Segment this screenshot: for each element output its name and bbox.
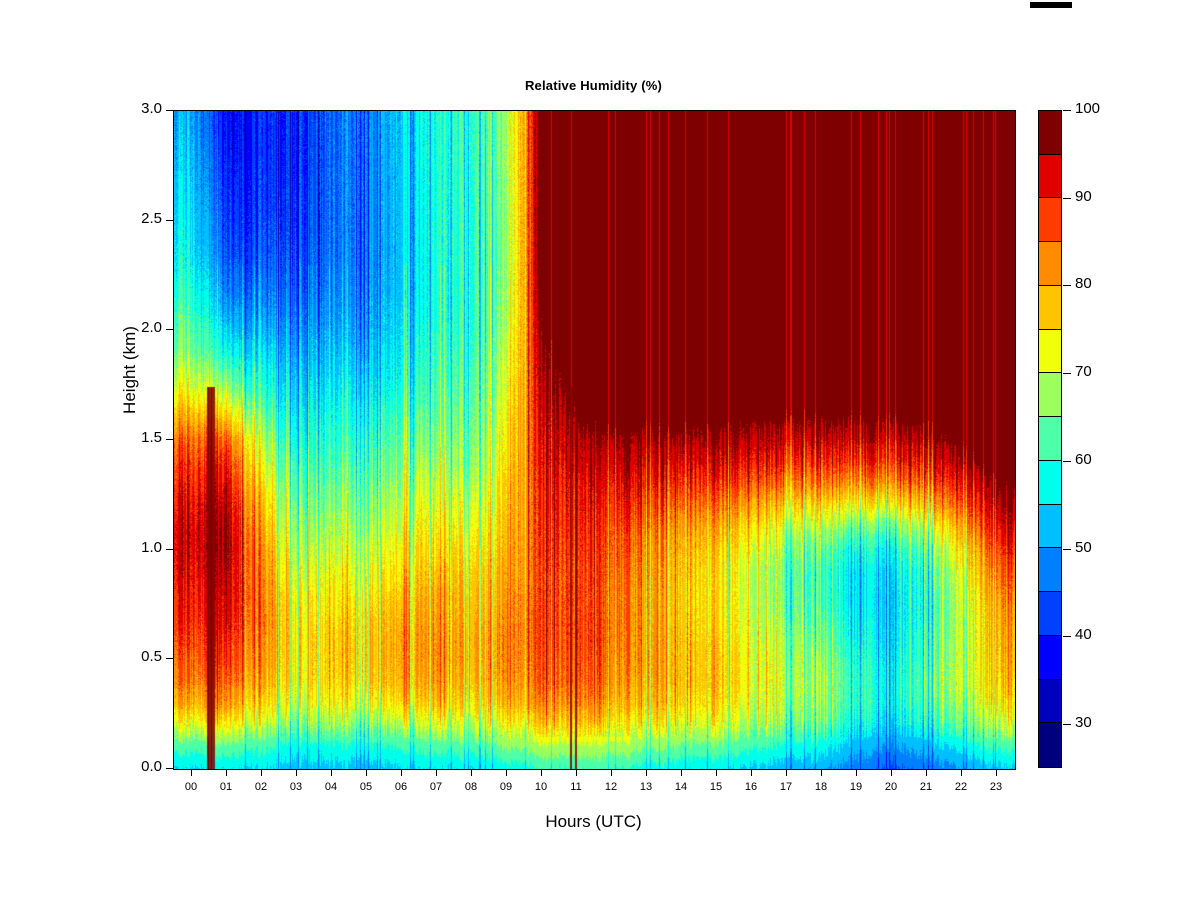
colorbar-band (1039, 198, 1061, 242)
x-axis-tick-label: 11 (561, 781, 591, 793)
colorbar-band-separator (1039, 679, 1061, 680)
colorbar-band-separator (1039, 197, 1061, 198)
colorbar-tick-label: 30 (1075, 714, 1092, 731)
colorbar-band-separator (1039, 241, 1061, 242)
y-axis-tick-label: 2.0 (141, 319, 162, 336)
x-axis-tick-label: 01 (211, 781, 241, 793)
colorbar-tick (1063, 461, 1071, 462)
x-axis-tick-label: 16 (736, 781, 766, 793)
colorbar-tick (1063, 373, 1071, 374)
top-edge-artifact (1030, 2, 1072, 8)
y-axis-tick-label: 1.0 (141, 539, 162, 556)
x-axis-tick (856, 769, 857, 776)
x-axis-tick-label: 07 (421, 781, 451, 793)
x-axis-tick (576, 769, 577, 776)
colorbar-band-separator (1039, 591, 1061, 592)
x-axis-tick (786, 769, 787, 776)
x-axis-tick-label: 06 (386, 781, 416, 793)
colorbar-band-separator (1039, 635, 1061, 636)
colorbar-tick-label: 60 (1075, 451, 1092, 468)
x-axis-tick (821, 769, 822, 776)
x-axis-tick (401, 769, 402, 776)
colorbar-band-separator (1039, 722, 1061, 723)
y-axis-tick (166, 439, 173, 440)
x-axis-tick-label: 03 (281, 781, 311, 793)
colorbar-band (1039, 330, 1061, 374)
figure-canvas: Relative Humidity (%) 0.00.51.01.52.02.5… (0, 0, 1200, 900)
y-axis-tick-label: 0.5 (141, 648, 162, 665)
x-axis-tick-label: 15 (701, 781, 731, 793)
x-axis-tick (926, 769, 927, 776)
x-axis-tick (506, 769, 507, 776)
colorbar-tick-label: 80 (1075, 275, 1092, 292)
x-axis-tick-label: 08 (456, 781, 486, 793)
colorbar-band (1039, 242, 1061, 286)
x-axis-tick (296, 769, 297, 776)
colorbar-band (1039, 461, 1061, 505)
y-axis-tick-label: 3.0 (141, 100, 162, 117)
colorbar-band-separator (1039, 154, 1061, 155)
x-axis-tick-label: 00 (176, 781, 206, 793)
x-axis-tick (646, 769, 647, 776)
colorbar-tick-label: 90 (1075, 188, 1092, 205)
y-axis-tick (166, 658, 173, 659)
colorbar-band (1039, 373, 1061, 417)
colorbar-tick (1063, 636, 1071, 637)
colorbar-tick-label: 70 (1075, 363, 1092, 380)
colorbar-band (1039, 417, 1061, 461)
colorbar-tick (1063, 549, 1071, 550)
x-axis-tick-label: 20 (876, 781, 906, 793)
x-axis-tick (191, 769, 192, 776)
colorbar-band-separator (1039, 285, 1061, 286)
x-axis-tick (961, 769, 962, 776)
x-axis-tick-label: 22 (946, 781, 976, 793)
x-axis-tick-label: 05 (351, 781, 381, 793)
colorbar-tick (1063, 285, 1071, 286)
colorbar-tick (1063, 198, 1071, 199)
heatmap-canvas (174, 111, 1015, 769)
x-axis-tick (226, 769, 227, 776)
colorbar-band-separator (1039, 329, 1061, 330)
y-axis-tick (166, 329, 173, 330)
x-axis-tick (716, 769, 717, 776)
x-axis-tick (261, 769, 262, 776)
x-axis-tick-label: 18 (806, 781, 836, 793)
colorbar (1038, 110, 1062, 768)
colorbar-band-separator (1039, 460, 1061, 461)
y-axis-title: Height (km) (120, 290, 140, 450)
x-axis-tick (541, 769, 542, 776)
x-axis-tick-label: 13 (631, 781, 661, 793)
y-axis-tick-label: 0.0 (141, 758, 162, 775)
x-axis-tick (891, 769, 892, 776)
colorbar-tick-label: 100 (1075, 100, 1100, 117)
colorbar-band (1039, 548, 1061, 592)
colorbar-band (1039, 636, 1061, 680)
colorbar-band (1039, 505, 1061, 549)
x-axis-tick (996, 769, 997, 776)
x-axis-tick-label: 17 (771, 781, 801, 793)
page-title: Relative Humidity (%) (173, 78, 1014, 93)
x-axis-tick (611, 769, 612, 776)
colorbar-band (1039, 155, 1061, 199)
colorbar-band-separator (1039, 547, 1061, 548)
x-axis-tick-label: 10 (526, 781, 556, 793)
x-axis-tick-label: 14 (666, 781, 696, 793)
colorbar-tick (1063, 724, 1071, 725)
colorbar-band-separator (1039, 372, 1061, 373)
y-axis-tick-label: 1.5 (141, 429, 162, 446)
x-axis-tick (436, 769, 437, 776)
colorbar-tick-label: 40 (1075, 626, 1092, 643)
heatmap-plot-area (173, 110, 1016, 770)
colorbar-band (1039, 592, 1061, 636)
x-axis-tick-label: 09 (491, 781, 521, 793)
y-axis-tick (166, 549, 173, 550)
colorbar-band (1039, 723, 1061, 767)
colorbar-band-separator (1039, 416, 1061, 417)
colorbar-band (1039, 286, 1061, 330)
colorbar-tick-label: 50 (1075, 539, 1092, 556)
y-axis-tick (166, 110, 173, 111)
x-axis-tick-label: 23 (981, 781, 1011, 793)
colorbar-tick (1063, 110, 1071, 111)
y-axis-tick (166, 768, 173, 769)
y-axis-tick (166, 220, 173, 221)
x-axis-tick (471, 769, 472, 776)
x-axis-tick-label: 12 (596, 781, 626, 793)
x-axis-tick-label: 19 (841, 781, 871, 793)
y-axis-tick-label: 2.5 (141, 210, 162, 227)
colorbar-band (1039, 111, 1061, 155)
x-axis-tick (681, 769, 682, 776)
x-axis-title: Hours (UTC) (173, 812, 1014, 832)
x-axis-tick (366, 769, 367, 776)
colorbar-band (1039, 680, 1061, 724)
x-axis-tick-label: 21 (911, 781, 941, 793)
x-axis-tick-label: 02 (246, 781, 276, 793)
colorbar-gradient (1038, 110, 1062, 768)
y-axis-title-wrapper: Height (km) (56, 360, 82, 520)
x-axis-tick (751, 769, 752, 776)
colorbar-band-separator (1039, 504, 1061, 505)
x-axis-tick-label: 04 (316, 781, 346, 793)
x-axis-tick (331, 769, 332, 776)
